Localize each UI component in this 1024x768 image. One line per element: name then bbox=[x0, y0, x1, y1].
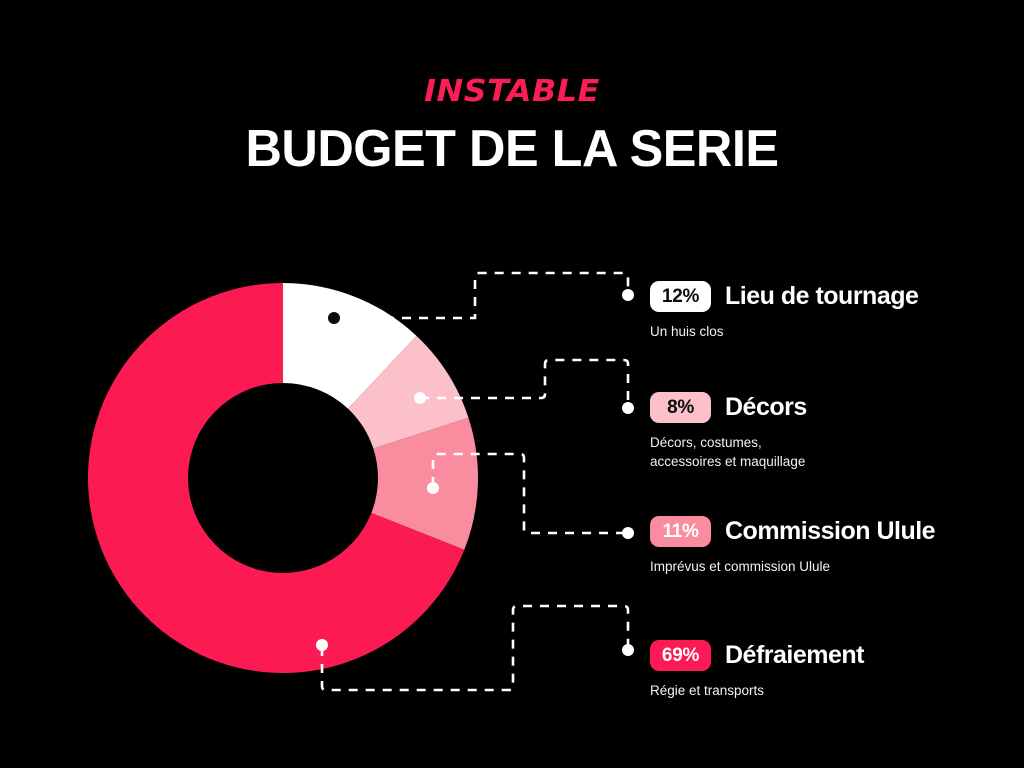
donut-slices bbox=[88, 283, 478, 673]
legend-label: Décors bbox=[725, 393, 807, 422]
legend-item-lieu-de-tournage[interactable]: 12% Lieu de tournage Un huis clos bbox=[650, 281, 1010, 341]
legend-description: Régie et transports bbox=[650, 681, 1010, 700]
donut-chart bbox=[88, 283, 478, 673]
legend-label: Lieu de tournage bbox=[725, 282, 918, 311]
leader-dot-legend-1 bbox=[622, 289, 634, 301]
legend-head: 12% Lieu de tournage bbox=[650, 281, 1010, 312]
legend-item-defraiement[interactable]: 69% Défraiement Régie et transports bbox=[650, 640, 1010, 700]
legend-badge-percent: 69% bbox=[650, 640, 711, 671]
legend-head: 11% Commission Ulule bbox=[650, 516, 1010, 547]
legend-badge-percent: 8% bbox=[650, 392, 711, 423]
legend-label: Défraiement bbox=[725, 641, 864, 670]
leader-dot-legend-4 bbox=[622, 644, 634, 656]
legend-label: Commission Ulule bbox=[725, 517, 935, 546]
leader-dot-legend-2 bbox=[622, 402, 634, 414]
legend-badge-percent: 11% bbox=[650, 516, 711, 547]
brand-logo: INSTABLE bbox=[0, 74, 1024, 109]
legend-head: 8% Décors bbox=[650, 392, 1010, 423]
infographic-slide: INSTABLE BUDGET DE LA SERIE bbox=[0, 0, 1024, 768]
donut-chart-svg bbox=[88, 283, 478, 673]
legend-item-decors[interactable]: 8% Décors Décors, costumes, accessoires … bbox=[650, 392, 1010, 471]
legend-description: Décors, costumes, accessoires et maquill… bbox=[650, 433, 1010, 471]
legend-badge-percent: 12% bbox=[650, 281, 711, 312]
legend-head: 69% Défraiement bbox=[650, 640, 1010, 671]
page-title: BUDGET DE LA SERIE bbox=[15, 118, 1008, 180]
leader-dot-legend-3 bbox=[622, 527, 634, 539]
legend-item-commission-ulule[interactable]: 11% Commission Ulule Imprévus et commiss… bbox=[650, 516, 1010, 576]
legend-description: Un huis clos bbox=[650, 322, 1010, 341]
legend-description: Imprévus et commission Ulule bbox=[650, 557, 1010, 576]
